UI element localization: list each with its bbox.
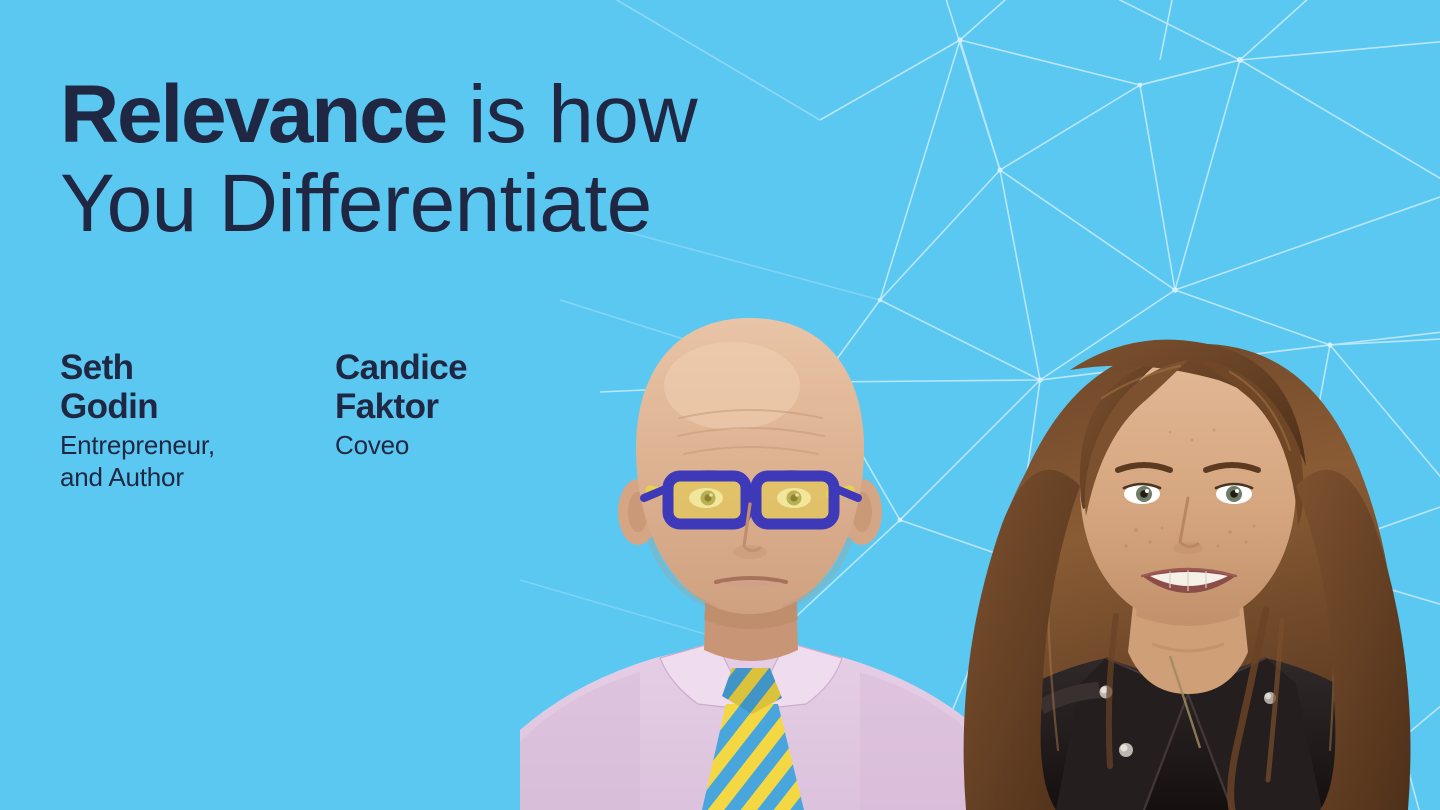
speaker-seth-godin: Seth Godin Entrepreneur, and Author [60, 348, 335, 493]
webinar-promo-banner: Relevance is how You Differentiate Seth … [0, 0, 1440, 810]
speaker-photo-seth-godin [520, 290, 980, 810]
page-title: Relevance is how You Differentiate [60, 75, 960, 244]
headline-line-1: Relevance is how [60, 75, 960, 155]
headline-emphasis: Relevance [60, 69, 446, 160]
speaker-photo-candice-faktor [930, 280, 1440, 810]
headline-line-2: You Differentiate [60, 164, 960, 244]
speaker-role: Entrepreneur, and Author [60, 430, 335, 492]
speaker-name: Seth Godin [60, 348, 335, 426]
headline-line-1-rest: is how [446, 69, 697, 160]
